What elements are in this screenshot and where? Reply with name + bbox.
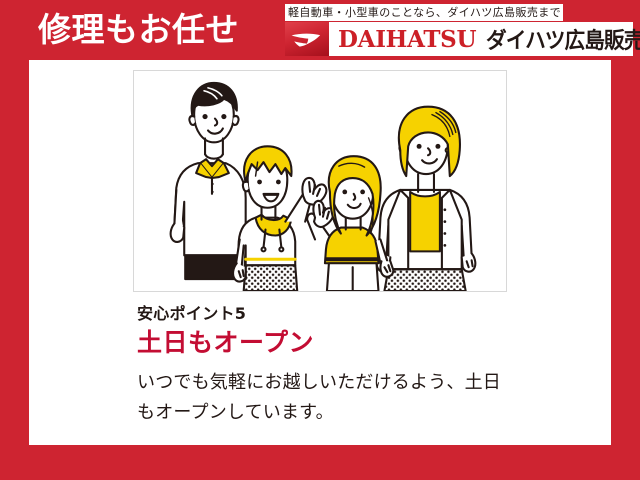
daihatsu-wordmark: DAIHATSU: [338, 26, 476, 53]
slide-root: 修理もお任せ 軽自動車・小型車のことなら、ダイハツ広島販売まで DAIHATSU…: [0, 0, 640, 480]
daihatsu-d-emblem-icon: [285, 22, 329, 56]
header-band: 修理もお任せ 軽自動車・小型車のことなら、ダイハツ広島販売まで DAIHATSU…: [0, 0, 640, 62]
brand-tagline: 軽自動車・小型車のことなら、ダイハツ広島販売まで: [285, 4, 563, 21]
headline: 土日もオープン: [137, 327, 537, 359]
content-panel: 安心ポイント5 土日もオープン いつでも気軽にお越しいただけるよう、土日もオープ…: [29, 60, 611, 445]
illustration-frame: [133, 70, 507, 292]
point-label: 安心ポイント5: [137, 303, 537, 325]
family-of-four-illustration: [134, 71, 506, 291]
company-name-jp: ダイハツ広島販売: [486, 23, 640, 55]
body-copy: いつでも気軽にお越しいただけるよう、土日もオープンしています。: [137, 368, 509, 428]
text-block: 安心ポイント5 土日もオープン いつでも気軽にお越しいただけるよう、土日もオープ…: [137, 303, 537, 428]
brand-logo-block: 軽自動車・小型車のことなら、ダイハツ広島販売まで DAIHATSU ダイハツ広島…: [285, 4, 633, 58]
brand-logo-bar: DAIHATSU ダイハツ広島販売: [285, 22, 633, 56]
page-title: 修理もお任せ: [38, 10, 239, 50]
